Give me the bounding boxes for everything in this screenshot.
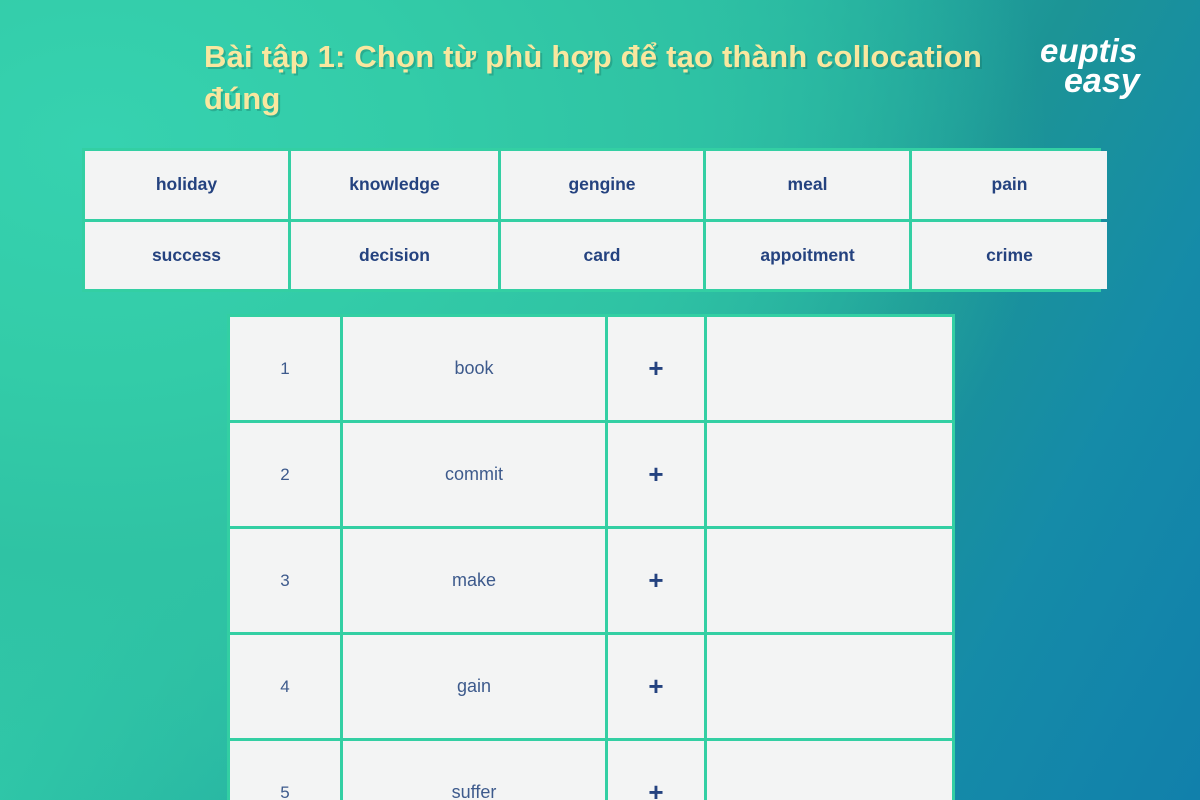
word-bank-cell[interactable]: knowledge xyxy=(291,151,498,219)
worksheet-slide: euptis easy Bài tập 1: Chọn từ phù hợp đ… xyxy=(0,0,1200,800)
plus-icon: + xyxy=(608,423,704,526)
exercise-row-verb: make xyxy=(343,529,605,632)
page-title: Bài tập 1: Chọn từ phù hợp để tạo thành … xyxy=(204,36,1004,120)
exercise-row-number: 1 xyxy=(230,317,340,420)
logo-line2: easy xyxy=(1064,62,1142,100)
word-bank-cell[interactable]: appoitment xyxy=(706,222,909,290)
logo-wordmark-icon: euptis easy xyxy=(1038,28,1178,102)
exercise-row-verb: suffer xyxy=(343,741,605,800)
plus-icon: + xyxy=(608,529,704,632)
word-bank-cell[interactable]: meal xyxy=(706,151,909,219)
exercise-answer-blank[interactable] xyxy=(707,423,952,526)
plus-icon: + xyxy=(608,635,704,738)
exercise-row-verb: book xyxy=(343,317,605,420)
word-bank-table: holiday knowledge gengine meal pain succ… xyxy=(82,148,1101,292)
word-bank-cell[interactable]: crime xyxy=(912,222,1107,290)
exercise-row-number: 4 xyxy=(230,635,340,738)
plus-icon: + xyxy=(608,741,704,800)
exercise-row-number: 3 xyxy=(230,529,340,632)
euptiseasy-logo: euptis easy xyxy=(1038,28,1178,102)
exercise-table: 1 book + 2 commit + 3 make + 4 gain + 5 … xyxy=(227,314,955,800)
plus-icon: + xyxy=(608,317,704,420)
exercise-row-number: 2 xyxy=(230,423,340,526)
exercise-answer-blank[interactable] xyxy=(707,635,952,738)
word-bank-cell[interactable]: decision xyxy=(291,222,498,290)
word-bank-cell[interactable]: success xyxy=(85,222,288,290)
word-bank-cell[interactable]: pain xyxy=(912,151,1107,219)
exercise-answer-blank[interactable] xyxy=(707,529,952,632)
word-bank-cell[interactable]: holiday xyxy=(85,151,288,219)
exercise-answer-blank[interactable] xyxy=(707,317,952,420)
exercise-row-verb: gain xyxy=(343,635,605,738)
word-bank-cell[interactable]: card xyxy=(501,222,703,290)
word-bank-cell[interactable]: gengine xyxy=(501,151,703,219)
exercise-answer-blank[interactable] xyxy=(707,741,952,800)
exercise-row-number: 5 xyxy=(230,741,340,800)
exercise-row-verb: commit xyxy=(343,423,605,526)
